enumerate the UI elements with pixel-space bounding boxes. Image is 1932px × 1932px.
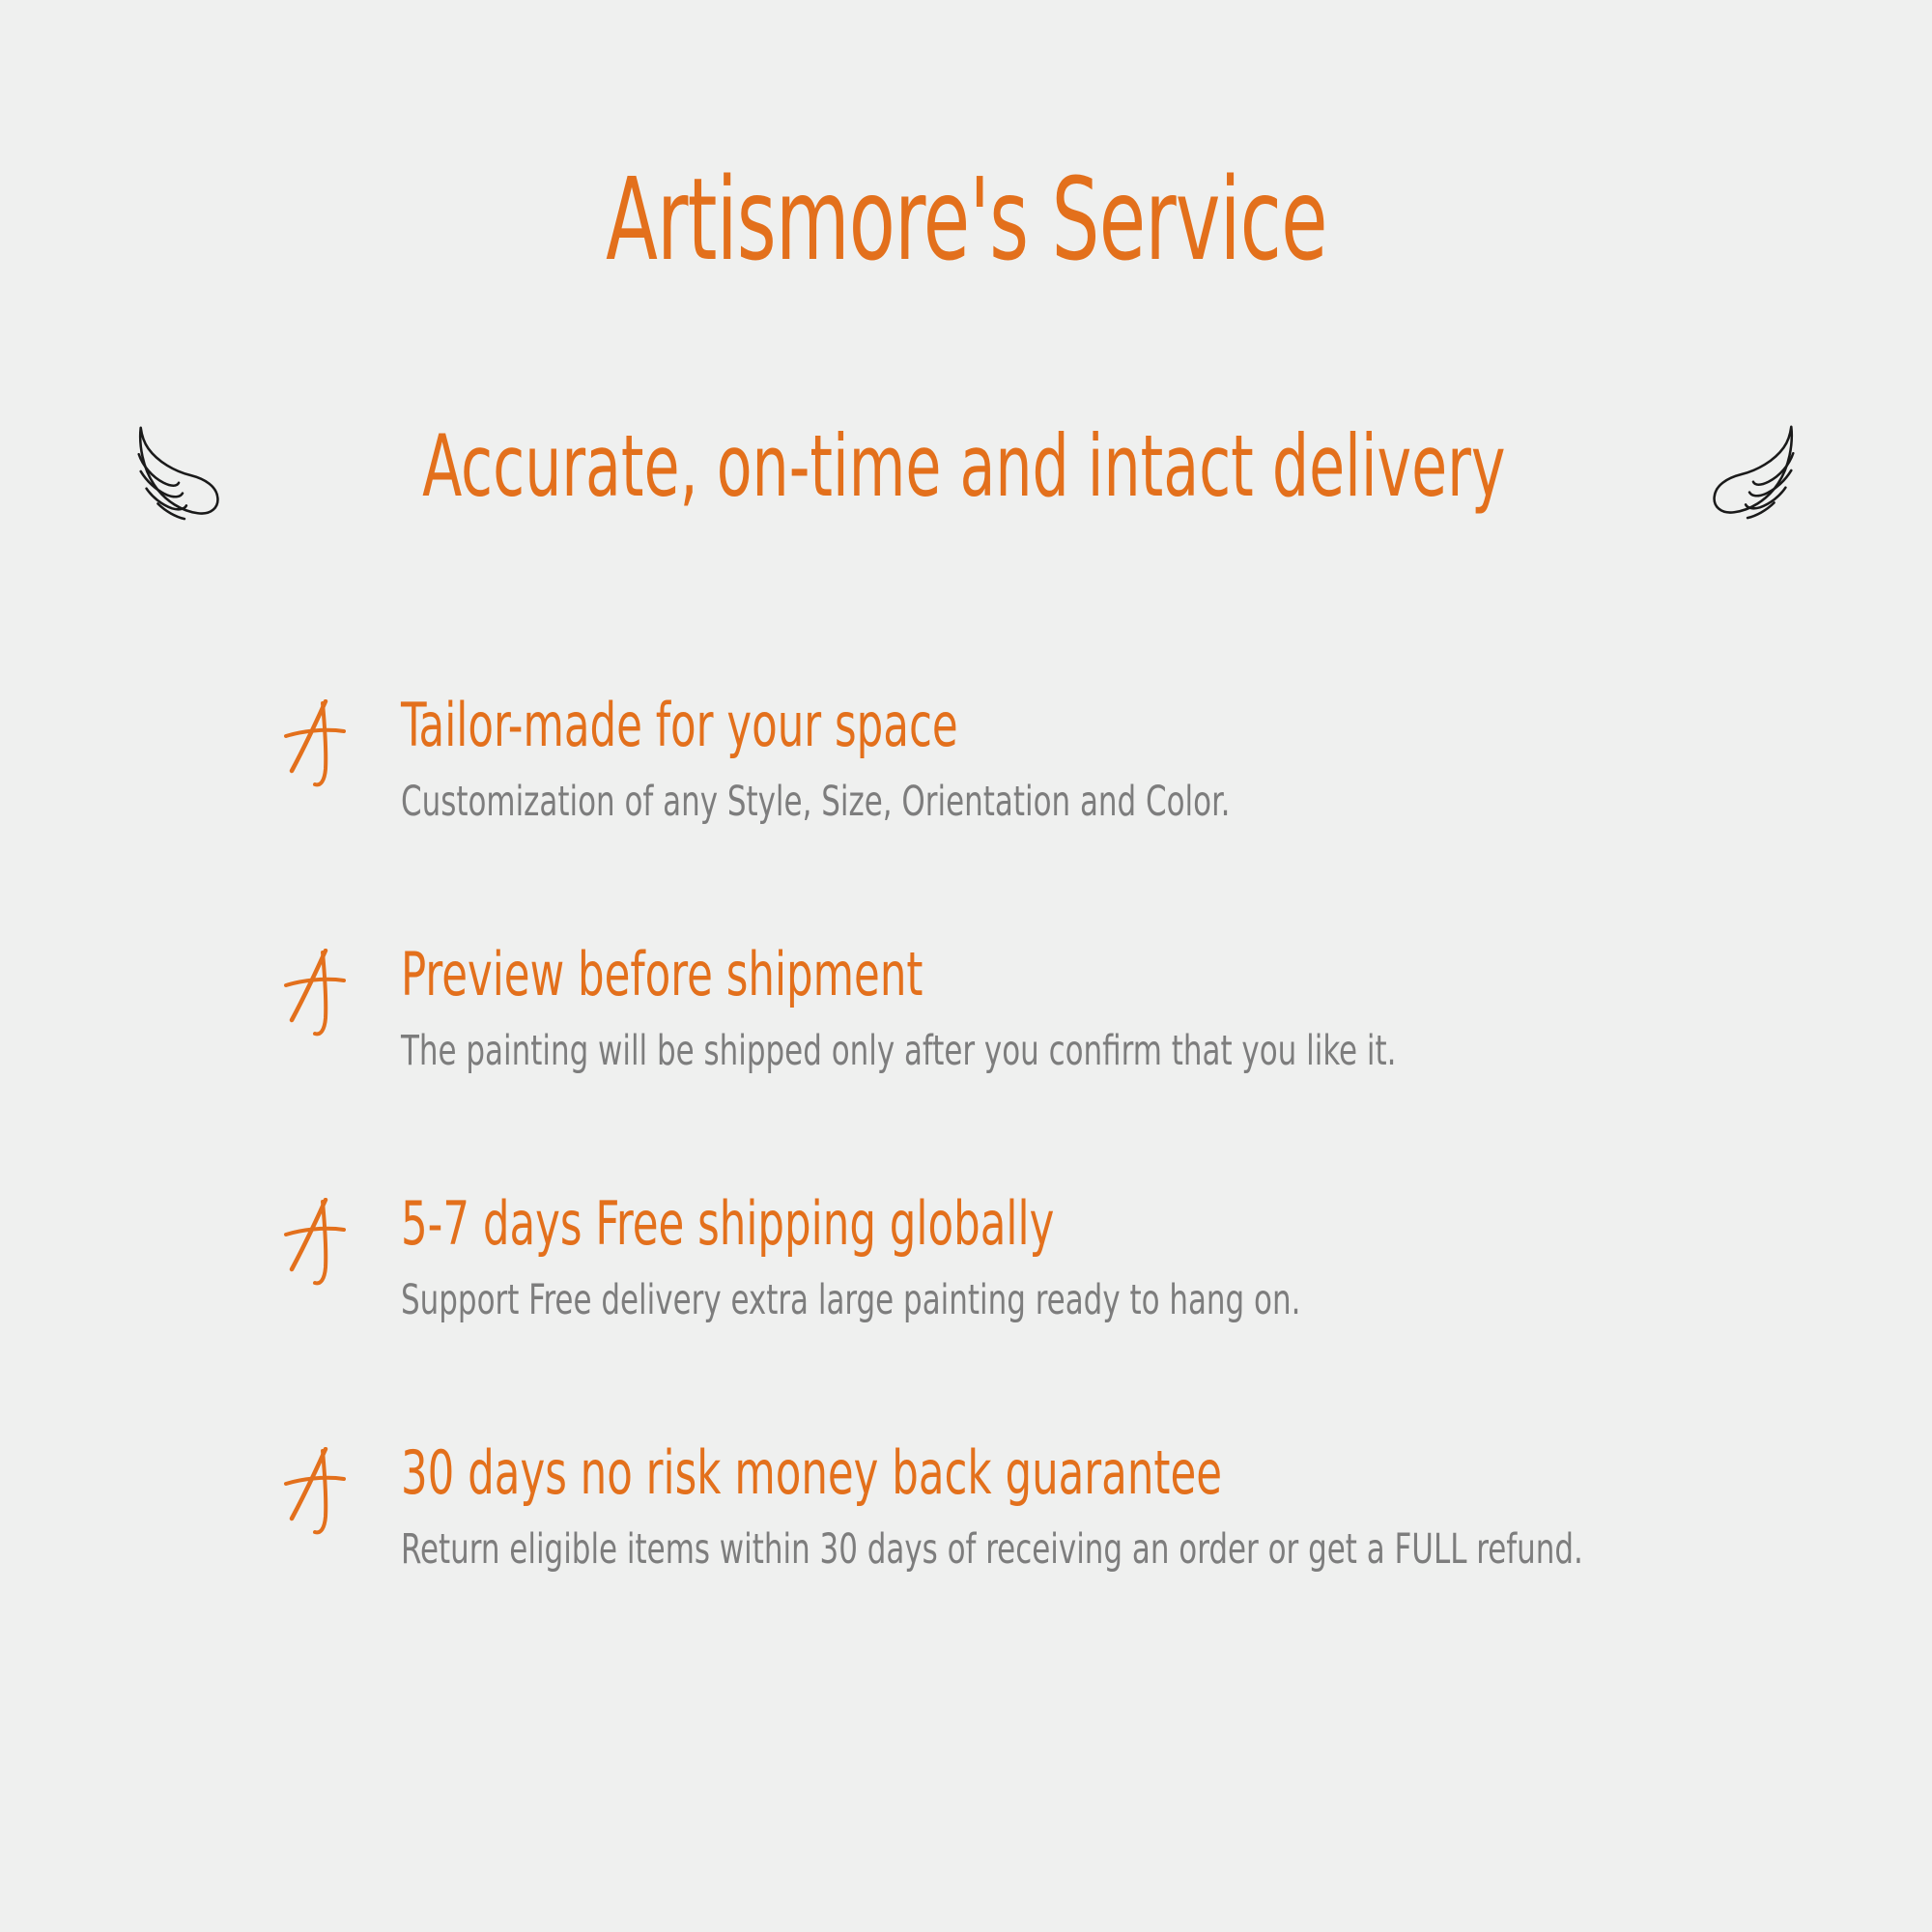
script-a-icon bbox=[280, 699, 357, 792]
service-item: 30 days no risk money back guarantee Ret… bbox=[280, 1441, 1826, 1586]
service-item-title: 30 days no risk money back guarantee bbox=[401, 1441, 1513, 1504]
page-title-container: Artismore's Service bbox=[0, 162, 1932, 276]
script-a-icon bbox=[280, 1447, 357, 1540]
service-item-title: 5-7 days Free shipping globally bbox=[401, 1192, 1513, 1255]
script-a-icon bbox=[280, 949, 357, 1041]
subtitle-row: Accurate, on-time and intact delivery bbox=[0, 384, 1932, 549]
script-a-icon bbox=[280, 1198, 357, 1291]
service-item-description: Support Free delivery extra large painti… bbox=[401, 1278, 1541, 1323]
service-item-description: The painting will be shipped only after … bbox=[401, 1029, 1541, 1074]
service-item-description: Customization of any Style, Size, Orient… bbox=[401, 780, 1541, 825]
wing-icon-right bbox=[1694, 412, 1808, 526]
service-list: Tailor-made for your space Customization… bbox=[280, 694, 1826, 1586]
service-infographic: Artismore's Service Accurate, on-time an… bbox=[0, 0, 1932, 1932]
service-item-title: Tailor-made for your space bbox=[401, 694, 1513, 756]
service-item-title: Preview before shipment bbox=[401, 943, 1513, 1006]
service-item-description: Return eligible items within 30 days of … bbox=[401, 1527, 1541, 1573]
service-item: 5-7 days Free shipping globally Support … bbox=[280, 1192, 1826, 1337]
service-item: Tailor-made for your space Customization… bbox=[280, 694, 1826, 838]
page-subtitle: Accurate, on-time and intact delivery bbox=[422, 424, 1505, 509]
wing-icon-left bbox=[124, 412, 238, 526]
service-item: Preview before shipment The painting wil… bbox=[280, 943, 1826, 1088]
page-title: Artismore's Service bbox=[606, 162, 1327, 276]
